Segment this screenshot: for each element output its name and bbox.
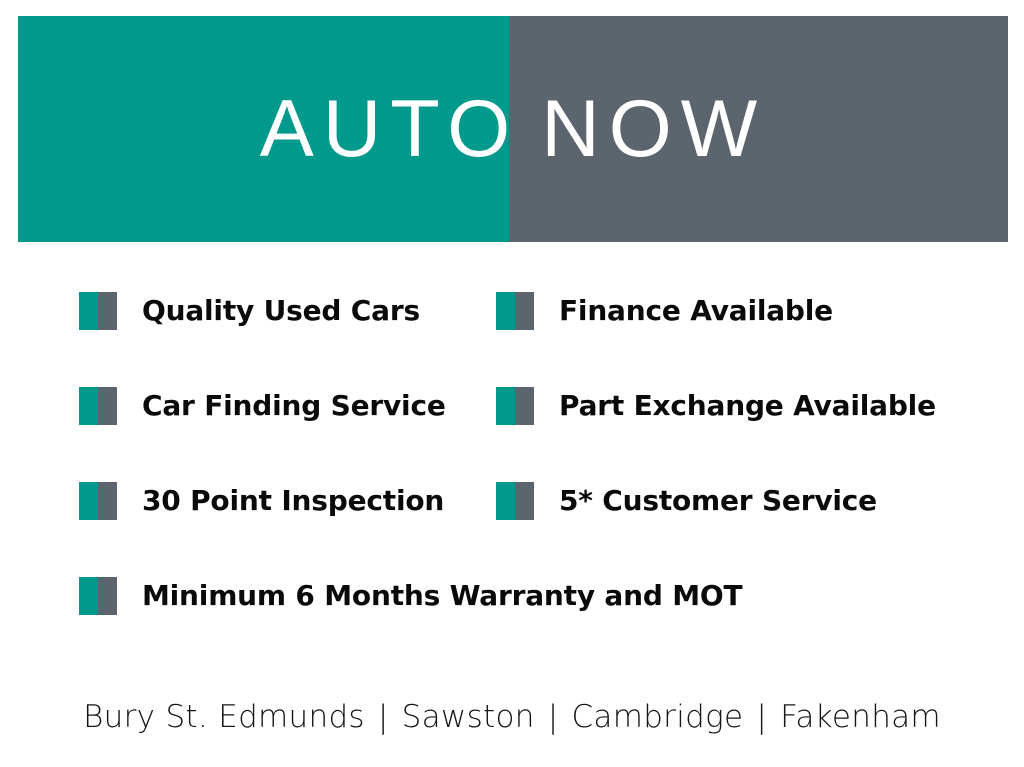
feature-label: Finance Available xyxy=(559,297,833,325)
feature-item-5-star-customer-service: 5* Customer Service xyxy=(496,472,877,530)
banner-teal-panel xyxy=(18,16,509,242)
split-square-marker-icon xyxy=(79,577,117,615)
location-fakenham: Fakenham xyxy=(780,699,941,735)
split-square-marker-icon xyxy=(496,292,534,330)
feature-item-30-point-inspection: 30 Point Inspection xyxy=(79,472,444,530)
feature-item-part-exchange-available: Part Exchange Available xyxy=(496,377,936,435)
feature-item-quality-used-cars: Quality Used Cars xyxy=(79,282,420,340)
split-square-marker-icon xyxy=(496,482,534,520)
split-square-marker-icon xyxy=(79,387,117,425)
location-sawston: Sawston xyxy=(402,699,535,735)
brand-banner: AUTO NOW xyxy=(18,16,1008,242)
feature-label: Part Exchange Available xyxy=(559,392,936,420)
location-separator: | xyxy=(743,699,780,735)
locations-footer: Bury St. Edmunds | Sawston | Cambridge |… xyxy=(0,694,1024,740)
location-bury-st-edmunds: Bury St. Edmunds xyxy=(83,699,365,735)
feature-label: Car Finding Service xyxy=(142,392,446,420)
feature-row: Minimum 6 Months Warranty and MOT xyxy=(0,567,1024,625)
feature-label: 5* Customer Service xyxy=(559,487,877,515)
location-cambridge: Cambridge xyxy=(571,699,743,735)
feature-item-minimum-warranty-and-mot: Minimum 6 Months Warranty and MOT xyxy=(79,567,742,625)
location-separator: | xyxy=(365,699,402,735)
feature-item-car-finding-service: Car Finding Service xyxy=(79,377,446,435)
split-square-marker-icon xyxy=(79,482,117,520)
feature-label: 30 Point Inspection xyxy=(142,487,444,515)
feature-row: Quality Used Cars Finance Available xyxy=(0,282,1024,340)
feature-item-finance-available: Finance Available xyxy=(496,282,833,340)
split-square-marker-icon xyxy=(496,387,534,425)
feature-row: 30 Point Inspection 5* Customer Service xyxy=(0,472,1024,530)
location-separator: | xyxy=(535,699,572,735)
feature-row: Car Finding Service Part Exchange Availa… xyxy=(0,377,1024,435)
feature-label: Quality Used Cars xyxy=(142,297,420,325)
banner-gray-panel xyxy=(509,16,1008,242)
split-square-marker-icon xyxy=(79,292,117,330)
poster-canvas: AUTO NOW Quality Used Cars Finance Avail… xyxy=(0,0,1024,767)
feature-label: Minimum 6 Months Warranty and MOT xyxy=(142,582,742,610)
feature-list: Quality Used Cars Finance Available Car … xyxy=(0,282,1024,632)
